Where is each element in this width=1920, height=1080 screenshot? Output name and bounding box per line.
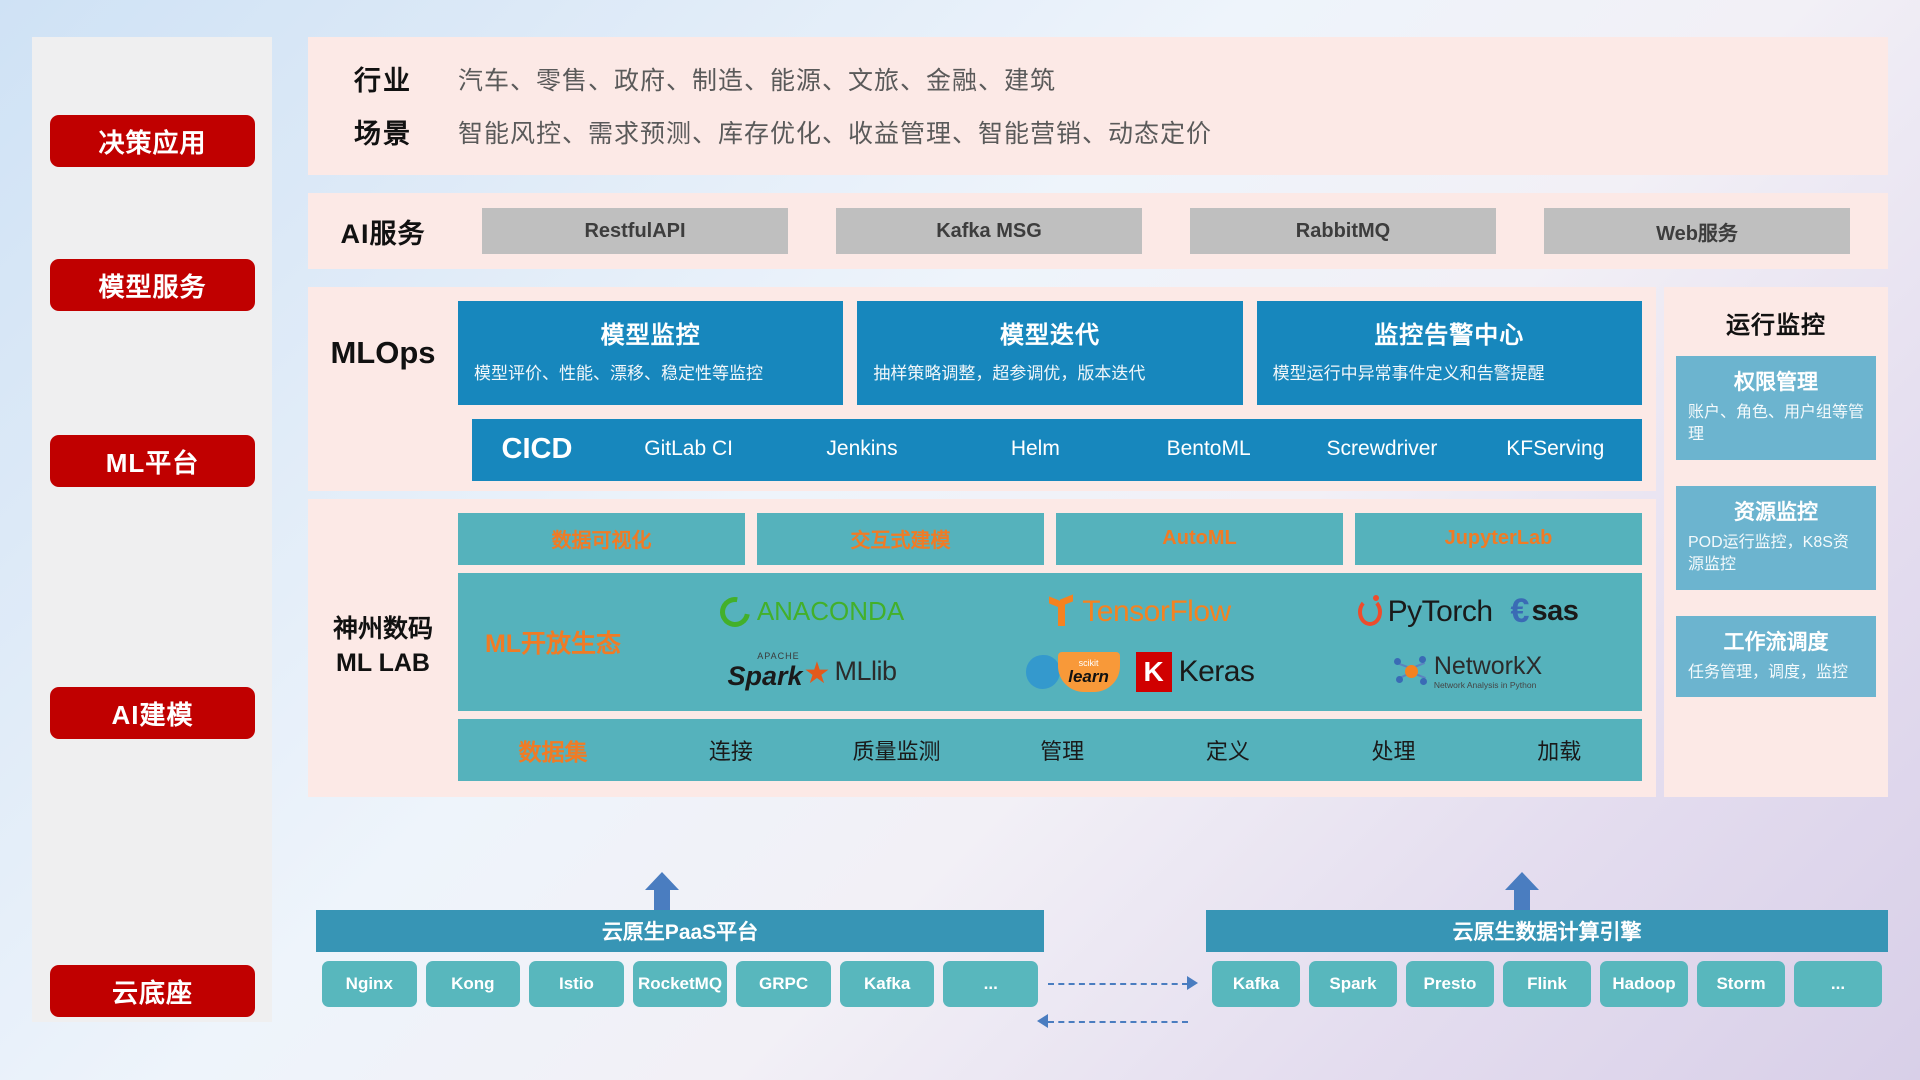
dataset-item-define[interactable]: 定义 — [1145, 734, 1311, 766]
dataset-item-load[interactable]: 加载 — [1476, 734, 1642, 766]
anaconda-wordmark: ANACONDA — [757, 596, 904, 627]
industry-row: 行业 汽车、零售、政府、制造、能源、文旅、金融、建筑 — [308, 59, 1888, 98]
ai-service-box-kafka-msg[interactable]: Kafka MSG — [836, 208, 1142, 254]
ml-open-ecosystem-label: ML开放生态 — [458, 624, 648, 660]
anaconda-ring-icon — [714, 591, 756, 633]
mlops-card-alert-center[interactable]: 监控告警中心 模型运行中异常事件定义和告警提醒 — [1257, 301, 1642, 405]
dataset-item-quality-monitoring[interactable]: 质量监测 — [814, 734, 980, 766]
ai-service-label: AI服务 — [308, 212, 458, 251]
cicd-item-bentoml[interactable]: BentoML — [1122, 435, 1295, 463]
mlops-band: MLOps 模型监控 模型评价、性能、漂移、稳定性等监控 模型迭代 抽样策略调整… — [308, 287, 1656, 491]
engine-chip-hadoop[interactable]: Hadoop — [1600, 961, 1688, 1007]
data-compute-engine-title: 云原生数据计算引擎 — [1206, 910, 1888, 952]
keras-k-icon: K — [1136, 652, 1172, 692]
mllab-body: 数据可视化 交互式建模 AutoML JupyterLab ML开放生态 — [458, 513, 1642, 781]
mllab-label-line2: ML LAB — [336, 647, 430, 681]
engine-chip-flink[interactable]: Flink — [1503, 961, 1591, 1007]
dataset-item-process[interactable]: 处理 — [1311, 734, 1477, 766]
rail-item-cloud-base[interactable]: 云底座 — [50, 965, 255, 1017]
scikit-learn-logo: scikit learn — [1026, 643, 1120, 701]
main-stack: 行业 汽车、零售、政府、制造、能源、文旅、金融、建筑 场景 智能风控、需求预测、… — [308, 37, 1888, 797]
dataset-row: 数据集 连接 质量监测 管理 定义 处理 加载 — [458, 719, 1642, 781]
ai-service-band: AI服务 RestfulAPI Kafka MSG RabbitMQ Web服务 — [308, 193, 1888, 269]
paas-platform-items: Nginx Kong Istio RocketMQ GRPC Kafka ... — [316, 952, 1044, 1013]
networkx-wordmark: NetworkX — [1434, 654, 1542, 679]
mlops-card-title: 模型监控 — [474, 315, 827, 350]
monitoring-card-title: 工作流调度 — [1688, 626, 1864, 656]
pytorch-logo: PyTorch — [1358, 583, 1493, 641]
keras-logo: K Keras — [1136, 643, 1255, 701]
mlops-card-model-monitoring[interactable]: 模型监控 模型评价、性能、漂移、稳定性等监控 — [458, 301, 843, 405]
cicd-item-kfserving[interactable]: KFServing — [1469, 435, 1642, 463]
scikit-tab-icon: scikit learn — [1058, 652, 1120, 692]
mllab-label: 神州数码 ML LAB — [308, 513, 458, 781]
paas-chip-rocketmq[interactable]: RocketMQ — [633, 961, 728, 1007]
mlops-card-desc: 模型评价、性能、漂移、稳定性等监控 — [474, 362, 827, 387]
arrow-up-paas-icon — [645, 872, 679, 914]
tool-chip-interactive-modeling[interactable]: 交互式建模 — [757, 513, 1044, 565]
industry-scenario-band: 行业 汽车、零售、政府、制造、能源、文旅、金融、建筑 场景 智能风控、需求预测、… — [308, 37, 1888, 175]
sklearn-keras-group: scikit learn K Keras — [1026, 643, 1255, 701]
networkx-logo: NetworkX Network Analysis in Python — [1394, 643, 1542, 701]
mllab-wrap: 神州数码 ML LAB 数据可视化 交互式建模 AutoML JupyterLa… — [308, 499, 1656, 797]
tool-chip-automl[interactable]: AutoML — [1056, 513, 1343, 565]
sas-wordmark: sas — [1531, 595, 1578, 628]
mllab-tools-row: 数据可视化 交互式建模 AutoML JupyterLab — [458, 513, 1642, 565]
dataset-items: 连接 质量监测 管理 定义 处理 加载 — [648, 734, 1642, 766]
cicd-bar: CICD GitLab CI Jenkins Helm BentoML Scre… — [472, 419, 1642, 481]
mlops-label: MLOps — [308, 301, 458, 405]
learn-text: learn — [1068, 668, 1109, 685]
dataset-label: 数据集 — [458, 733, 648, 767]
engine-chip-storm[interactable]: Storm — [1697, 961, 1785, 1007]
rail-item-ml-platform[interactable]: ML平台 — [50, 435, 255, 487]
paas-platform-card: 云原生PaaS平台 Nginx Kong Istio RocketMQ GRPC… — [316, 910, 1044, 1013]
mlops-card-desc: 模型运行中异常事件定义和告警提醒 — [1273, 362, 1626, 387]
mlops-card-title: 监控告警中心 — [1273, 315, 1626, 350]
sas-swirl-icon: € — [1511, 592, 1530, 631]
connector-paas-to-engine — [1048, 983, 1188, 985]
keras-wordmark: Keras — [1179, 655, 1255, 689]
sas-logo: € sas — [1511, 583, 1579, 641]
spark-wordmark: Spark — [727, 661, 802, 692]
mllab-label-line1: 神州数码 — [333, 613, 433, 647]
mlops-column: MLOps 模型监控 模型评价、性能、漂移、稳定性等监控 模型迭代 抽样策略调整… — [308, 287, 1656, 797]
scenario-values: 智能风控、需求预测、库存优化、收益管理、智能营销、动态定价 — [458, 114, 1212, 150]
arrow-up-engine-icon — [1505, 872, 1539, 914]
industry-label: 行业 — [308, 59, 458, 98]
layer-rail: 决策应用 模型服务 ML平台 AI建模 云底座 — [32, 37, 272, 1022]
paas-platform-title: 云原生PaaS平台 — [316, 910, 1044, 952]
engine-chip-spark[interactable]: Spark — [1309, 961, 1397, 1007]
cicd-item-jenkins[interactable]: Jenkins — [775, 435, 948, 463]
mlops-and-monitoring-strip: MLOps 模型监控 模型评价、性能、漂移、稳定性等监控 模型迭代 抽样策略调整… — [308, 287, 1888, 797]
scenario-row: 场景 智能风控、需求预测、库存优化、收益管理、智能营销、动态定价 — [308, 112, 1888, 151]
paas-chip-more[interactable]: ... — [943, 961, 1038, 1007]
rail-item-decision-app[interactable]: 决策应用 — [50, 115, 255, 167]
ai-service-box-restfulapi[interactable]: RestfulAPI — [482, 208, 788, 254]
pytorch-flame-icon — [1358, 598, 1382, 626]
paas-chip-nginx[interactable]: Nginx — [322, 961, 417, 1007]
data-compute-engine-card: 云原生数据计算引擎 Kafka Spark Presto Flink Hadoo… — [1206, 910, 1888, 1013]
dataset-item-manage[interactable]: 管理 — [979, 734, 1145, 766]
monitoring-card-resources[interactable]: 资源监控 POD运行监控，K8S资源监控 — [1676, 486, 1876, 590]
connector-arrowhead-right-icon — [1187, 976, 1198, 990]
cicd-items: GitLab CI Jenkins Helm BentoML Screwdriv… — [602, 435, 1642, 463]
mlops-card-desc: 抽样策略调整，超参调优，版本迭代 — [873, 362, 1226, 387]
spark-apache-text: APACHE — [757, 651, 799, 661]
monitoring-card-title: 权限管理 — [1688, 366, 1864, 396]
anaconda-logo: ANACONDA — [720, 583, 904, 641]
mlops-cards: 模型监控 模型评价、性能、漂移、稳定性等监控 模型迭代 抽样策略调整，超参调优，… — [458, 301, 1642, 405]
scikit-blob-icon — [1026, 655, 1060, 689]
monitoring-card-desc: POD运行监控，K8S资源监控 — [1688, 532, 1864, 577]
cicd-item-screwdriver[interactable]: Screwdriver — [1295, 435, 1468, 463]
cicd-item-helm[interactable]: Helm — [949, 435, 1122, 463]
paas-chip-grpc[interactable]: GRPC — [736, 961, 831, 1007]
tool-chip-jupyterlab[interactable]: JupyterLab — [1355, 513, 1642, 565]
ai-service-box-rabbitmq[interactable]: RabbitMQ — [1190, 208, 1496, 254]
monitoring-card-title: 资源监控 — [1688, 496, 1864, 526]
tool-chip-data-visualization[interactable]: 数据可视化 — [458, 513, 745, 565]
architecture-diagram: 决策应用 模型服务 ML平台 AI建模 云底座 行业 汽车、零售、政府、制造、能… — [0, 0, 1920, 1080]
engine-chip-presto[interactable]: Presto — [1406, 961, 1494, 1007]
networkx-wordmark-group: NetworkX Network Analysis in Python — [1434, 654, 1542, 690]
connector-arrowhead-left-icon — [1037, 1014, 1048, 1028]
paas-chip-istio[interactable]: Istio — [529, 961, 624, 1007]
mlops-cards-wrap: MLOps 模型监控 模型评价、性能、漂移、稳定性等监控 模型迭代 抽样策略调整… — [308, 287, 1656, 419]
ai-service-box-web-service[interactable]: Web服务 — [1544, 208, 1850, 254]
monitoring-card-workflow[interactable]: 工作流调度 任务管理，调度，监控 — [1676, 616, 1876, 697]
tensorflow-logo: TensorFlow — [1049, 583, 1230, 641]
dataset-item-connect[interactable]: 连接 — [648, 734, 814, 766]
mlops-card-model-iteration[interactable]: 模型迭代 抽样策略调整，超参调优，版本迭代 — [857, 301, 1242, 405]
mllab-band: 神州数码 ML LAB 数据可视化 交互式建模 AutoML JupyterLa… — [308, 499, 1656, 797]
paas-chip-kong[interactable]: Kong — [426, 961, 521, 1007]
scenario-label: 场景 — [308, 112, 458, 151]
engine-chip-more[interactable]: ... — [1794, 961, 1882, 1007]
data-compute-engine-items: Kafka Spark Presto Flink Hadoop Storm ..… — [1206, 952, 1888, 1013]
industry-values: 汽车、零售、政府、制造、能源、文旅、金融、建筑 — [458, 61, 1056, 97]
networkx-tagline: Network Analysis in Python — [1434, 681, 1542, 690]
runtime-monitoring-rail: 运行监控 权限管理 账户、角色、用户组等管理 资源监控 POD运行监控，K8S资… — [1664, 287, 1888, 797]
monitoring-card-desc: 任务管理，调度，监控 — [1688, 662, 1864, 684]
pytorch-sas-group: PyTorch € sas — [1358, 583, 1579, 641]
tensorflow-wordmark: TensorFlow — [1082, 595, 1230, 629]
spark-mllib-logo: APACHE Spark MLlib — [727, 643, 896, 701]
mllib-wordmark: MLlib — [835, 656, 897, 687]
cloud-base-section: 云原生PaaS平台 Nginx Kong Istio RocketMQ GRPC… — [308, 872, 1888, 1037]
tensorflow-mark-icon — [1049, 597, 1075, 627]
runtime-monitoring-title: 运行监控 — [1676, 305, 1876, 340]
spark-mark-icon: APACHE Spark — [727, 651, 829, 692]
ml-open-ecosystem-logos: ANACONDA TensorFlow — [648, 583, 1632, 701]
pytorch-wordmark: PyTorch — [1388, 595, 1493, 629]
monitoring-card-desc: 账户、角色、用户组等管理 — [1688, 402, 1864, 447]
paas-chip-kafka[interactable]: Kafka — [840, 961, 935, 1007]
cicd-label: CICD — [472, 433, 602, 466]
networkx-graph-icon — [1394, 656, 1428, 688]
rail-item-model-service[interactable]: 模型服务 — [50, 259, 255, 311]
monitoring-card-permissions[interactable]: 权限管理 账户、角色、用户组等管理 — [1676, 356, 1876, 460]
spark-star-icon — [804, 666, 830, 692]
mlops-card-title: 模型迭代 — [873, 315, 1226, 350]
rail-item-ai-modeling[interactable]: AI建模 — [50, 687, 255, 739]
cicd-item-gitlab-ci[interactable]: GitLab CI — [602, 435, 775, 463]
ai-service-boxes: RestfulAPI Kafka MSG RabbitMQ Web服务 — [458, 208, 1888, 254]
ml-open-ecosystem-row: ML开放生态 ANACONDA — [458, 573, 1642, 711]
connector-engine-to-paas — [1048, 1021, 1188, 1023]
engine-chip-kafka[interactable]: Kafka — [1212, 961, 1300, 1007]
